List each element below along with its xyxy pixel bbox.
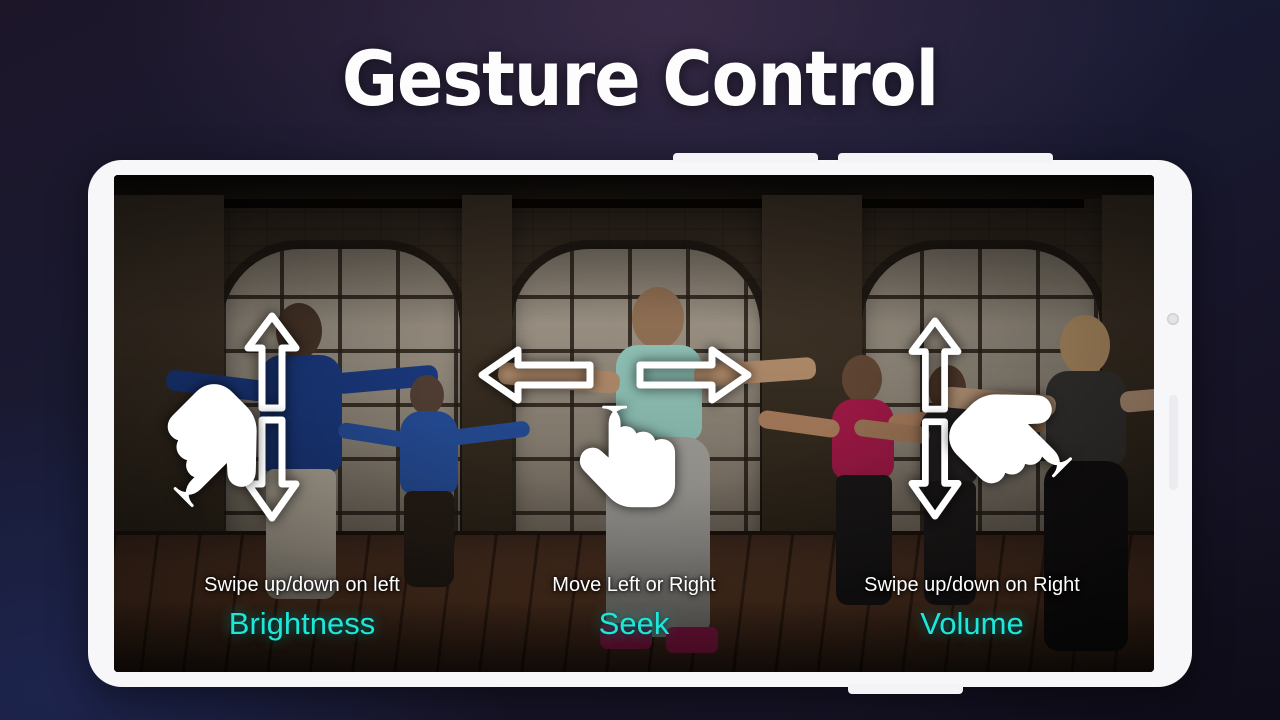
hand-pointer-down-right-icon — [944, 384, 1074, 504]
gesture-action: Seek — [466, 606, 802, 642]
video-player[interactable]: Swipe up/down on left Brightness — [114, 175, 1154, 672]
power-button[interactable] — [1169, 395, 1178, 490]
phone-mockup: Swipe up/down on left Brightness — [88, 160, 1192, 687]
gesture-caption: Move Left or Right — [466, 574, 802, 597]
brightness-labels: Swipe up/down on left Brightness — [132, 574, 472, 642]
gesture-action: Brightness — [132, 606, 472, 642]
hand-pointer-down-left-icon — [142, 384, 272, 504]
gesture-control-screen: Gesture Control — [0, 0, 1280, 720]
volume-labels: Swipe up/down on Right Volume — [804, 574, 1140, 642]
gesture-action: Volume — [804, 606, 1140, 642]
speaker-nub — [848, 684, 963, 694]
volume-button-up[interactable] — [673, 153, 818, 163]
seek-icons — [466, 322, 802, 552]
volume-button-down[interactable] — [838, 153, 1053, 163]
camera-dot — [1167, 313, 1179, 325]
volume-icons — [804, 322, 1140, 552]
hand-pointer-up-icon — [574, 392, 694, 522]
gesture-caption: Swipe up/down on Right — [804, 574, 1140, 597]
gesture-caption: Swipe up/down on left — [132, 574, 472, 597]
gesture-overlay: Swipe up/down on left Brightness — [114, 175, 1154, 672]
brightness-icons — [132, 322, 472, 552]
page-title: Gesture Control — [0, 34, 1280, 123]
seek-labels: Move Left or Right Seek — [466, 574, 802, 642]
